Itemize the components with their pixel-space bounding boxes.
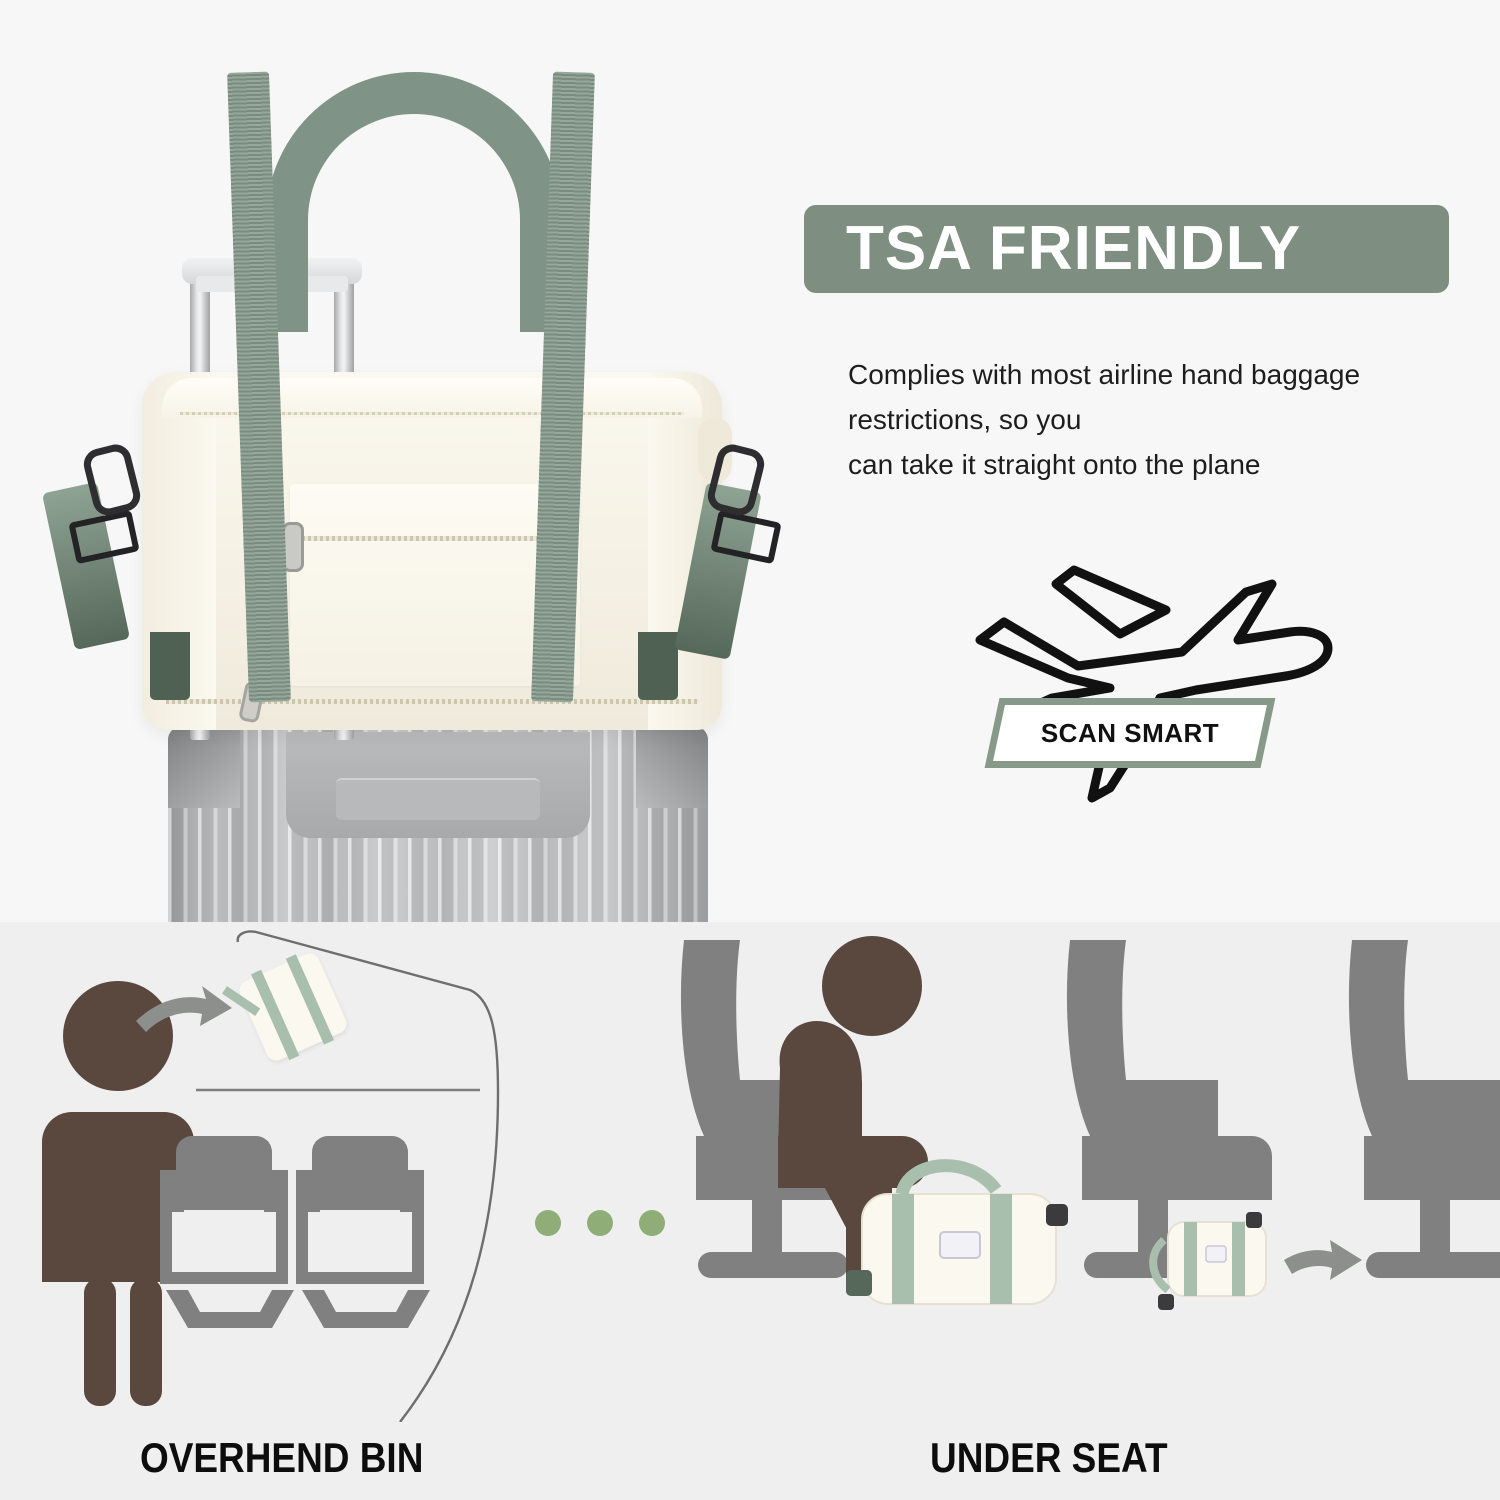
- arrow-right-icon: [1284, 1240, 1362, 1280]
- hero-product-photo: [0, 0, 800, 922]
- standing-person-head-icon: [63, 981, 173, 1091]
- bag-handle-anchor-right: [638, 632, 678, 700]
- suitcase-grip: [336, 778, 540, 820]
- under-seat-caption: UNDER SEAT: [930, 1434, 1168, 1482]
- tsa-friendly-badge-label: TSA FRIENDLY: [804, 218, 1301, 280]
- overhead-bin-caption: OVERHEND BIN: [140, 1434, 423, 1482]
- tsa-friendly-badge: TSA FRIENDLY: [804, 205, 1449, 293]
- feature-description: Complies with most airline hand baggage …: [848, 352, 1468, 487]
- bag-handle-arc: [266, 72, 562, 332]
- duffel-bag-photo: [142, 372, 722, 730]
- bottom-panel: [0, 922, 1500, 1500]
- feature-description-line-3: can take it straight onto the plane: [848, 442, 1468, 487]
- separator-dot-2: [587, 1210, 613, 1236]
- feature-description-line-2: restrictions, so you: [848, 397, 1468, 442]
- feature-description-line-1: Complies with most airline hand baggage: [848, 352, 1468, 397]
- top-panel: TSA FRIENDLY Complies with most airline …: [0, 0, 1500, 922]
- suitcase-corner-right: [636, 726, 708, 808]
- front-pocket-zipper: [290, 536, 572, 541]
- airplane-outline-icon: [960, 548, 1340, 828]
- scan-smart-banner: SCAN SMART: [985, 698, 1276, 768]
- suitcase-photo: [168, 726, 708, 922]
- overhead-bin-scene: [0, 922, 520, 1422]
- scan-smart-graphic: SCAN SMART: [960, 548, 1340, 828]
- under-seat-scene: [640, 922, 1500, 1422]
- under-seat-diagram: [640, 922, 1500, 1422]
- bag-handle-anchor-left: [150, 632, 190, 700]
- feature-text-column: TSA FRIENDLY Complies with most airline …: [800, 0, 1500, 922]
- mini-bag-moving-icon: [1153, 1212, 1266, 1310]
- scan-smart-banner-label: SCAN SMART: [999, 705, 1261, 761]
- seat-side-view-3: [1349, 940, 1500, 1278]
- product-feature-image: TSA FRIENDLY Complies with most airline …: [0, 0, 1500, 1500]
- seated-person-head-icon: [822, 936, 922, 1036]
- separator-dot-1: [535, 1210, 561, 1236]
